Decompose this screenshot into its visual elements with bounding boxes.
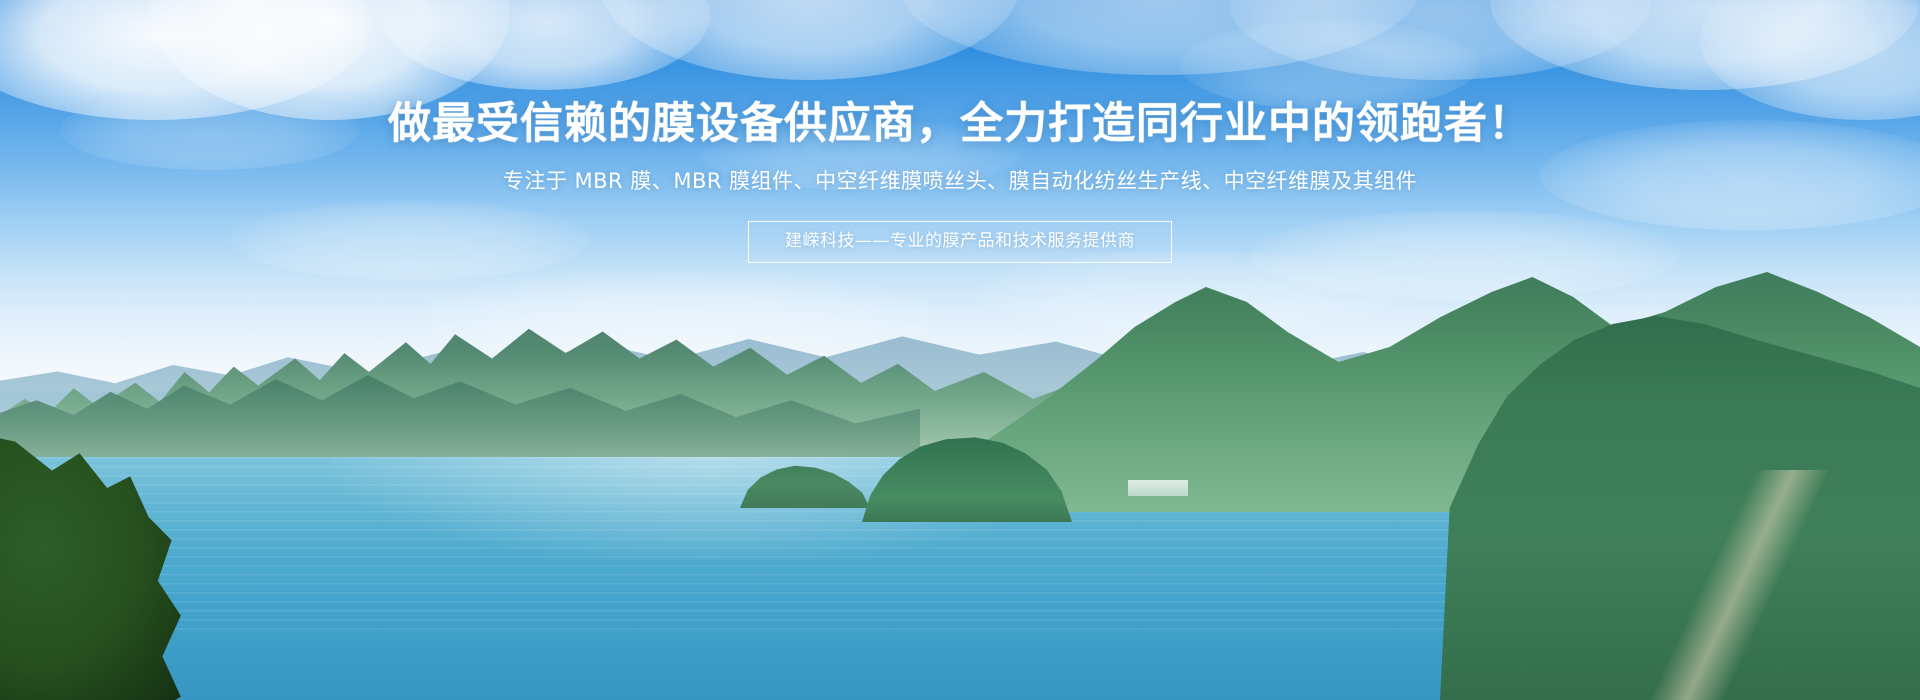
banner-tagline-box: 建嵘科技——专业的膜产品和技术服务提供商 bbox=[748, 221, 1172, 263]
banner-headline: 做最受信赖的膜设备供应商，全力打造同行业中的领跑者！ bbox=[388, 103, 1532, 146]
hero-banner: 做最受信赖的膜设备供应商，全力打造同行业中的领跑者！ 专注于 MBR 膜、MBR… bbox=[0, 0, 1920, 700]
banner-text-overlay: 做最受信赖的膜设备供应商，全力打造同行业中的领跑者！ 专注于 MBR 膜、MBR… bbox=[0, 0, 1920, 700]
banner-subtitle: 专注于 MBR 膜、MBR 膜组件、中空纤维膜喷丝头、膜自动化纺丝生产线、中空纤… bbox=[503, 171, 1417, 192]
